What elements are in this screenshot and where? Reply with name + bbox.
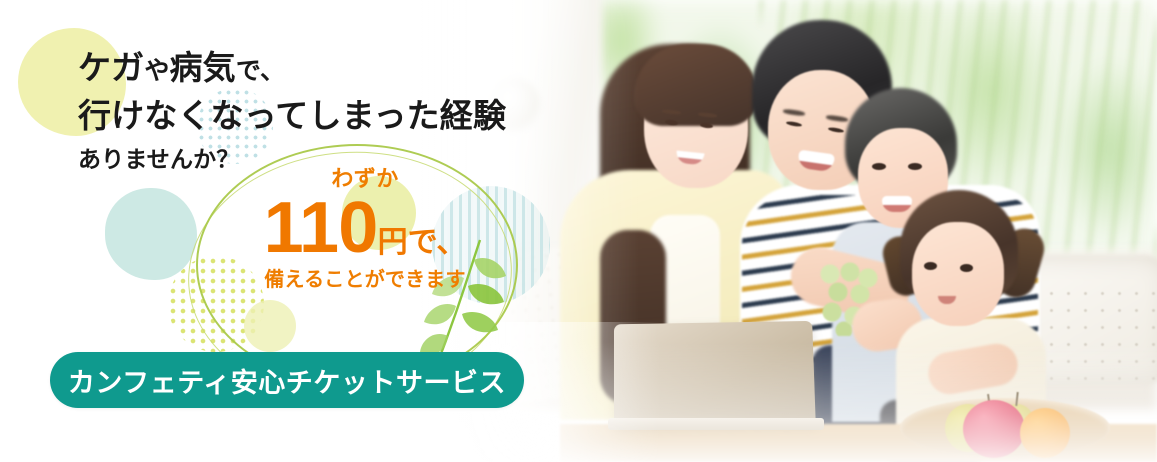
headline-line-1: ケガや病気で、 — [78, 46, 598, 93]
promo-banner: ケガや病気で、 行けなくなってしまった経験 ありませんか？ わずか 110 円で… — [0, 0, 1157, 462]
service-name-label: カンフェティ安心チケットサービス — [68, 361, 506, 400]
headline-de: で、 — [236, 57, 285, 85]
price-amount: 110 — [264, 192, 378, 264]
price-unit: 円で、 — [378, 228, 467, 264]
decorative-mint-blob — [105, 188, 197, 280]
price-bottom-label: 備えることができます — [230, 266, 500, 294]
price-badge: わずか 110 円で、 備えることができます — [230, 166, 500, 294]
service-name-button[interactable]: カンフェティ安心チケットサービス — [50, 352, 524, 408]
headline-ya: や — [144, 57, 169, 85]
headline-kega: ケガ — [78, 49, 144, 86]
headline-line-2: 行けなくなってしまった経験 — [78, 93, 598, 139]
headline: ケガや病気で、 行けなくなってしまった経験 ありませんか？ — [78, 46, 598, 179]
price-amount-row: 110 円で、 — [230, 192, 500, 264]
headline-byouki: 病気 — [170, 49, 236, 86]
